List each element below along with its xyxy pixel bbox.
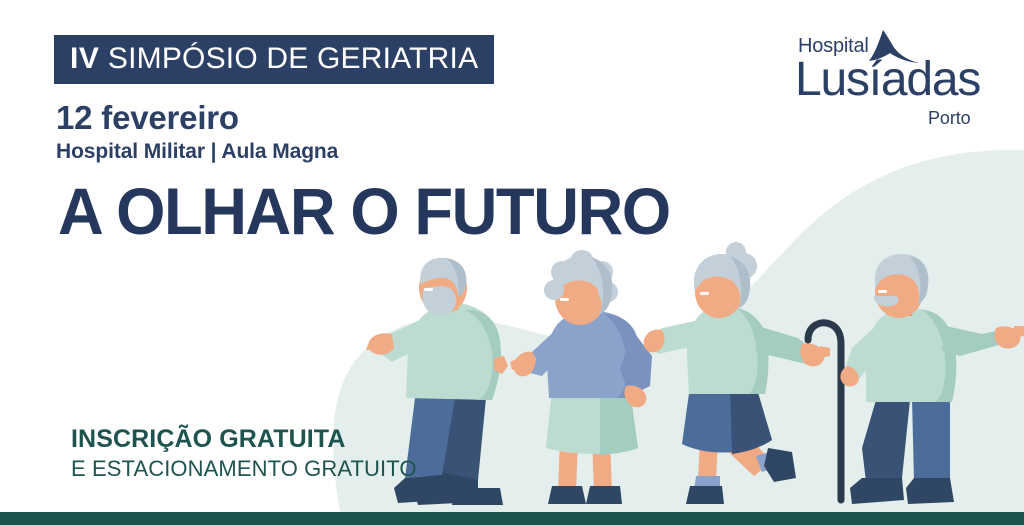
sail-wing-icon bbox=[857, 30, 919, 72]
hospital-lusiadas-logo: Hospital Lusíadas Porto bbox=[795, 36, 995, 136]
registration-free-label: INSCRIÇÃO GRATUITA bbox=[71, 427, 345, 452]
event-banner: IV SIMPÓSIO DE GERIATRIA 12 fevereiro Ho… bbox=[0, 0, 1024, 525]
event-venue: Hospital Militar | Aula Magna bbox=[56, 140, 338, 163]
ground-strip bbox=[0, 512, 1024, 525]
page-title: A OLHAR O FUTURO bbox=[58, 178, 670, 244]
series-title: SIMPÓSIO DE GERIATRIA bbox=[99, 42, 478, 75]
logo-porto-word: Porto bbox=[928, 109, 971, 127]
edition-roman: IV bbox=[70, 42, 99, 75]
symposium-title-bar: IV SIMPÓSIO DE GERIATRIA bbox=[54, 35, 494, 84]
parking-free-label: E ESTACIONAMENTO GRATUITO bbox=[71, 458, 417, 480]
event-date: 12 fevereiro bbox=[56, 100, 239, 136]
